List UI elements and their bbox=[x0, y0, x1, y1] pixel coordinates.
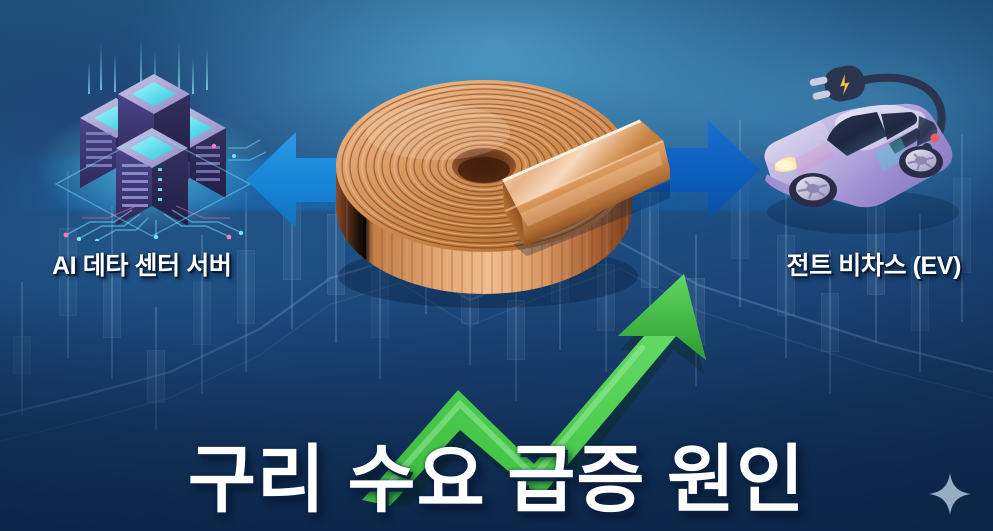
label-electric-vehicle: 전트 비차스 (EV) bbox=[787, 246, 962, 282]
label-datacenter: AI 데타 센터 서버 bbox=[52, 246, 231, 282]
electric-car-icon bbox=[735, 52, 985, 242]
page-title: 구리 수요 급증 원인 bbox=[0, 443, 993, 517]
four-point-sparkle-icon bbox=[929, 473, 971, 515]
server-rack-icon bbox=[28, 36, 278, 241]
infographic-canvas: AI 데타 센터 서버 전트 비차스 (EV) 구리 수요 급증 원인 bbox=[0, 0, 993, 531]
